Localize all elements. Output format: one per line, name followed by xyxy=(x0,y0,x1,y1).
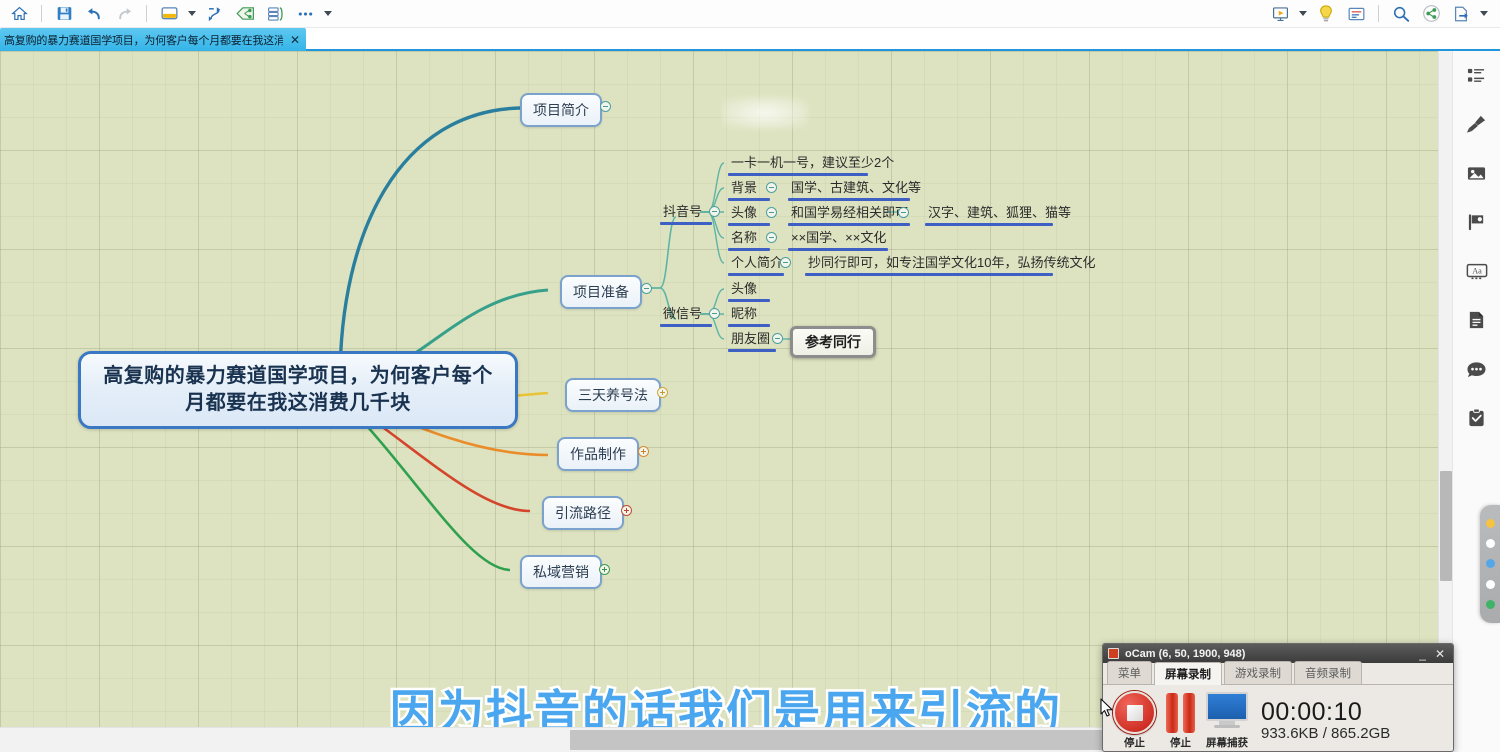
search-icon[interactable] xyxy=(1386,1,1416,27)
expand-toggle-wechat-moments[interactable] xyxy=(772,333,783,344)
leaf-label: 汉字、建筑、狐狸、猫等 xyxy=(925,204,1074,224)
application-window: 高复购的暴力赛道国学项目，为何客户每个月都要在我这消费几千块 ✕ xyxy=(0,0,1500,752)
share-icon[interactable] xyxy=(1416,1,1446,27)
screen-capture-button[interactable]: 屏幕捕获 xyxy=(1205,692,1249,750)
close-icon[interactable]: ✕ xyxy=(1435,649,1445,659)
leaf-label: 国学、古建筑、文化等 xyxy=(788,179,924,199)
document-tab-bar: 高复购的暴力赛道国学项目，为何客户每个月都要在我这消费几千块 ✕ xyxy=(0,28,1500,51)
document-icon[interactable] xyxy=(1461,306,1493,334)
flag-icon[interactable] xyxy=(1461,208,1493,236)
comment-icon[interactable] xyxy=(1461,355,1493,383)
ocam-status-readout: 00:00:10 933.6KB / 865.2GB xyxy=(1261,699,1390,742)
leaf-bio[interactable]: 个人简介 xyxy=(728,254,786,274)
stop-record-label: 停止 xyxy=(1124,735,1145,750)
stop-record-icon xyxy=(1113,691,1156,734)
branch-node-three-day-method[interactable]: 三天养号法 xyxy=(565,378,661,412)
node-underline xyxy=(788,223,910,226)
recording-elapsed-time: 00:00:10 xyxy=(1261,699,1390,725)
leaf-label: 名称 xyxy=(728,229,760,249)
toolbar-left-group xyxy=(0,1,336,27)
expand-toggle-background[interactable] xyxy=(766,182,777,193)
widget-dot-4 xyxy=(1486,580,1495,589)
node-underline xyxy=(728,248,770,251)
branch-label: 私域营销 xyxy=(533,562,589,582)
outline-icon[interactable] xyxy=(260,1,290,27)
mouse-cursor xyxy=(1100,698,1114,717)
image-icon[interactable] xyxy=(1461,159,1493,187)
svg-text:Aa: Aa xyxy=(1472,266,1482,275)
selected-node-reference-peers[interactable]: 参考同行 xyxy=(790,326,876,358)
expand-toggle-wechat-account[interactable] xyxy=(709,308,720,319)
document-tab-label: 高复购的暴力赛道国学项目，为何客户每个月都要在我这消费几千块 xyxy=(4,32,283,48)
leaf-bio-value[interactable]: 抄同行即可，如专注国学文化10年，弘扬传统文化 xyxy=(805,254,1098,274)
ocam-tab-screen-record[interactable]: 屏幕录制 xyxy=(1154,662,1222,685)
widget-dot-3 xyxy=(1486,559,1495,568)
node-underline xyxy=(728,324,770,327)
pause-record-icon xyxy=(1166,692,1195,734)
document-tab[interactable]: 高复购的暴力赛道国学项目，为何客户每个月都要在我这消费几千块 ✕ xyxy=(0,28,306,51)
ocam-recorder-window[interactable]: oCam (6, 50, 1900, 948) _ ✕ 菜单 屏幕录制 游戏录制… xyxy=(1102,643,1454,752)
node-underline xyxy=(728,173,868,176)
branch-node-private-domain[interactable]: 私域营销 xyxy=(520,555,602,589)
branch-node-traffic-path[interactable]: 引流路径 xyxy=(542,496,624,530)
ocam-control-panel: 停止 停止 屏幕捕获 00:00:10 933.6KB / 865.2GB xyxy=(1103,685,1453,751)
ocam-tab-menu[interactable]: 菜单 xyxy=(1107,661,1152,684)
note-icon[interactable] xyxy=(1341,1,1371,27)
toolbar-right-group xyxy=(1265,1,1500,27)
home-icon[interactable] xyxy=(4,1,34,27)
brush-icon[interactable] xyxy=(1461,110,1493,138)
outline-panel-icon[interactable] xyxy=(1461,61,1493,89)
expand-toggle-project-prep[interactable] xyxy=(641,283,652,294)
leaf-label: 个人简介 xyxy=(728,254,786,274)
leaf-label: 抄同行即可，如专注国学文化10年，弘扬传统文化 xyxy=(805,254,1098,274)
close-icon[interactable]: ✕ xyxy=(290,34,300,46)
expand-toggle-private-domain[interactable] xyxy=(599,564,610,575)
redo-icon[interactable] xyxy=(109,1,139,27)
undo-icon[interactable] xyxy=(79,1,109,27)
node-underline xyxy=(660,324,712,327)
expand-toggle-avatar-detail[interactable] xyxy=(898,207,909,218)
vertical-scrollbar[interactable] xyxy=(1438,51,1452,727)
leaf-avatar[interactable]: 头像 xyxy=(728,204,760,224)
leaf-one-card-one-phone[interactable]: 一卡一机一号，建议至少2个 xyxy=(728,154,897,174)
more-dropdown-caret[interactable] xyxy=(320,1,336,27)
expand-toggle-avatar[interactable] xyxy=(766,207,777,218)
branch-label: 引流路径 xyxy=(555,503,611,523)
vertical-scrollbar-thumb[interactable] xyxy=(1440,471,1452,581)
leaf-avatar-detail[interactable]: 汉字、建筑、狐狸、猫等 xyxy=(925,204,1074,224)
branch-label: 作品制作 xyxy=(570,444,626,464)
export-dropdown-caret[interactable] xyxy=(1476,1,1492,27)
save-icon[interactable] xyxy=(49,1,79,27)
node-underline xyxy=(728,198,770,201)
leaf-label: 头像 xyxy=(728,280,760,300)
minimize-icon[interactable]: _ xyxy=(1419,649,1426,659)
leaf-background-value[interactable]: 国学、古建筑、文化等 xyxy=(788,179,924,199)
expand-toggle-project-intro[interactable] xyxy=(600,101,611,112)
right-sidebar: Aa xyxy=(1452,51,1500,752)
leaf-label: ××国学、××文化 xyxy=(788,229,889,249)
ocam-window-title: oCam (6, 50, 1900, 948) xyxy=(1125,648,1245,660)
subnode-douyin-account[interactable]: 抖音号 xyxy=(660,203,705,223)
node-underline xyxy=(925,223,1053,226)
subnode-label: 抖音号 xyxy=(660,203,705,223)
ocam-tab-audio-record[interactable]: 音频录制 xyxy=(1294,661,1362,684)
branch-label: 三天养号法 xyxy=(578,385,648,405)
monitor-icon xyxy=(1205,692,1249,734)
node-underline xyxy=(805,273,1053,276)
subnode-label: 微信号 xyxy=(660,305,705,325)
leaf-label: 昵称 xyxy=(728,305,760,325)
branch-node-project-intro[interactable]: 项目简介 xyxy=(520,93,602,127)
leaf-wechat-moments[interactable]: 朋友圈 xyxy=(728,330,773,350)
expand-toggle-douyin-account[interactable] xyxy=(709,206,720,217)
node-underline xyxy=(660,222,712,225)
central-node-label: 高复购的暴力赛道国学项目，为何客户每个月都要在我这消费几千块 xyxy=(81,363,515,416)
pause-record-button[interactable]: 停止 xyxy=(1166,692,1195,750)
node-underline xyxy=(788,198,910,201)
checklist-icon[interactable] xyxy=(1461,404,1493,432)
main-toolbar xyxy=(0,0,1500,28)
node-underline xyxy=(788,248,888,251)
expand-toggle-name[interactable] xyxy=(766,232,777,243)
theme-dropdown-caret[interactable] xyxy=(184,1,200,27)
leaf-label: 朋友圈 xyxy=(728,330,773,350)
leaf-background[interactable]: 背景 xyxy=(728,179,760,199)
pause-record-label: 停止 xyxy=(1170,735,1191,750)
branch-node-project-prep[interactable]: 项目准备 xyxy=(560,275,642,309)
leaf-name-value[interactable]: ××国学、××文化 xyxy=(788,229,889,249)
leaf-wechat-nickname[interactable]: 昵称 xyxy=(728,305,760,325)
mindmap-canvas[interactable]: 高复购的暴力赛道国学项目，为何客户每个月都要在我这消费几千块 项目简介 项目准备… xyxy=(0,51,1452,727)
structure-icon[interactable] xyxy=(200,1,230,27)
ocam-window-buttons: _ ✕ xyxy=(1419,649,1448,659)
expand-toggle-traffic-path[interactable] xyxy=(621,505,632,516)
text-format-icon[interactable]: Aa xyxy=(1461,257,1493,285)
leaf-label: 一卡一机一号，建议至少2个 xyxy=(728,154,897,174)
presentation-dropdown-caret[interactable] xyxy=(1295,1,1311,27)
leaf-avatar-value[interactable]: 和国学易经相关即可 xyxy=(788,204,911,224)
leaf-label: 背景 xyxy=(728,179,760,199)
widget-dot-5 xyxy=(1486,600,1495,609)
node-underline xyxy=(728,349,776,352)
toolbar-divider-3 xyxy=(1378,5,1379,22)
floating-tool-widget[interactable] xyxy=(1480,505,1500,623)
more-icon[interactable] xyxy=(290,1,320,27)
expand-toggle-bio[interactable] xyxy=(780,257,791,268)
branch-node-content-production[interactable]: 作品制作 xyxy=(557,437,639,471)
toolbar-divider xyxy=(41,5,42,22)
selected-node-label: 参考同行 xyxy=(805,334,861,350)
central-node[interactable]: 高复购的暴力赛道国学项目，为何客户每个月都要在我这消费几千块 xyxy=(78,351,518,429)
presentation-icon[interactable] xyxy=(1265,1,1295,27)
widget-dot-1 xyxy=(1486,519,1495,528)
leaf-label: 和国学易经相关即可 xyxy=(788,204,911,224)
screen-capture-label: 屏幕捕获 xyxy=(1206,735,1248,750)
leaf-label: 头像 xyxy=(728,204,760,224)
ocam-tab-game-record[interactable]: 游戏录制 xyxy=(1224,661,1292,684)
relationship-icon[interactable] xyxy=(230,1,260,27)
export-icon[interactable] xyxy=(1446,1,1476,27)
node-underline xyxy=(728,223,770,226)
theme-icon[interactable] xyxy=(154,1,184,27)
leaf-name[interactable]: 名称 xyxy=(728,229,760,249)
expand-toggle-three-day-method[interactable] xyxy=(657,387,668,398)
expand-toggle-content-production[interactable] xyxy=(638,446,649,457)
ocam-app-icon xyxy=(1108,648,1119,659)
ocam-tab-strip: 菜单 屏幕录制 游戏录制 音频录制 xyxy=(1103,663,1453,685)
leaf-wechat-avatar[interactable]: 头像 xyxy=(728,280,760,300)
branch-label: 项目简介 xyxy=(533,100,589,120)
toolbar-divider-2 xyxy=(146,5,147,22)
recording-file-size: 933.6KB / 865.2GB xyxy=(1261,725,1390,742)
branch-label: 项目准备 xyxy=(573,282,629,302)
node-underline xyxy=(728,299,770,302)
node-underline xyxy=(728,273,784,276)
stop-record-button[interactable]: 停止 xyxy=(1113,691,1156,750)
widget-dot-2 xyxy=(1486,539,1495,548)
lightbulb-icon[interactable] xyxy=(1311,1,1341,27)
subnode-wechat-account[interactable]: 微信号 xyxy=(660,305,705,325)
